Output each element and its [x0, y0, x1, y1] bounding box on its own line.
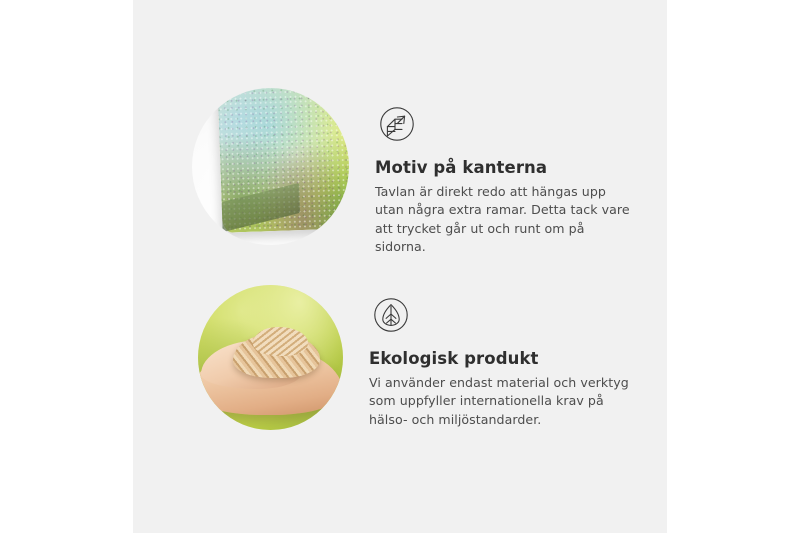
- content-panel: Motiv på kanterna Tavlan är direkt redo …: [133, 0, 667, 533]
- feature-description: Vi använder endast material och verktyg …: [369, 374, 631, 429]
- canvas-wrap-edge-icon: [375, 102, 419, 146]
- hands-holding-wood-chips-photo: [198, 285, 343, 430]
- canvas-artwork: [218, 88, 349, 232]
- product-feature-banner: Motiv på kanterna Tavlan är direkt redo …: [0, 0, 800, 533]
- wood-chips-top: [253, 327, 308, 356]
- leaf-icon: [369, 293, 413, 337]
- feature-copy-ekologisk: Ekologisk produkt Vi använder endast mat…: [369, 285, 631, 429]
- feature-title: Motiv på kanterna: [375, 158, 637, 178]
- feature-block-ekologisk-produkt: Ekologisk produkt Vi använder endast mat…: [133, 285, 631, 430]
- feature-title: Ekologisk produkt: [369, 349, 631, 369]
- feature-copy-motiv: Motiv på kanterna Tavlan är direkt redo …: [375, 88, 637, 256]
- grass-background: [198, 285, 343, 430]
- canvas-print-corner-photo: [192, 88, 349, 245]
- feature-block-motiv-pa-kanterna: Motiv på kanterna Tavlan är direkt redo …: [133, 88, 637, 256]
- studio-background: [192, 88, 349, 245]
- feature-description: Tavlan är direkt redo att hängas upp uta…: [375, 183, 637, 257]
